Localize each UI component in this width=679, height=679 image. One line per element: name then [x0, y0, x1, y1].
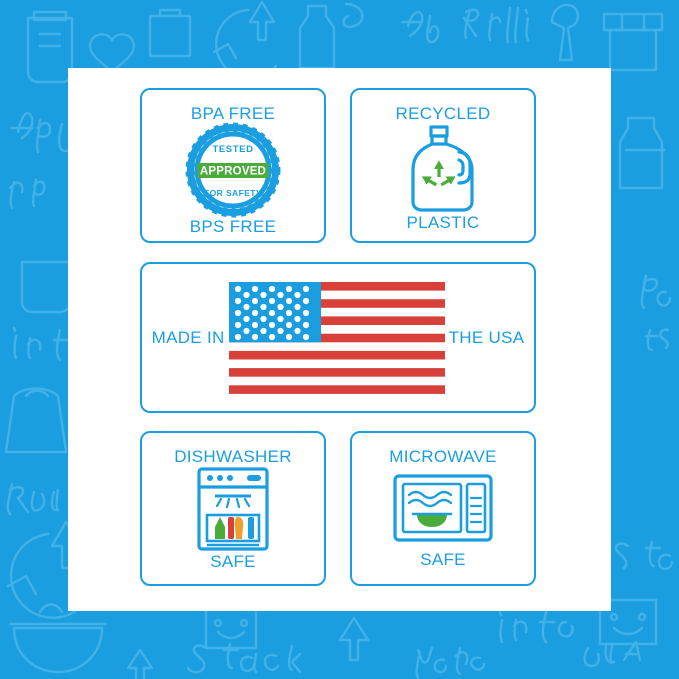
badge-microwave-safe: MICROWAVE: [350, 431, 536, 586]
badges-card: BPA FREE APPROVED TESTED: [68, 68, 611, 611]
microwave-label-bottom: SAFE: [420, 551, 466, 568]
dishwasher-icon: [142, 465, 324, 553]
dishwasher-label-bottom: SAFE: [210, 553, 256, 570]
microwave-icon: [352, 465, 534, 551]
badge-bpa-free: BPA FREE APPROVED TESTED: [140, 88, 326, 243]
badge-dishwasher-safe: DISHWASHER: [140, 431, 326, 586]
recycled-label-top: RECYCLED: [396, 105, 491, 122]
dishwasher-label-top: DISHWASHER: [174, 448, 292, 465]
made-in-usa-label-left: MADE IN: [152, 328, 225, 348]
svg-text:APPROVED: APPROVED: [200, 166, 266, 178]
product-feature-badges-graphic: BPA FREE APPROVED TESTED: [0, 0, 679, 679]
usa-flag-icon: [229, 282, 445, 394]
bpa-free-label-top: BPA FREE: [191, 105, 275, 122]
microwave-label-top: MICROWAVE: [389, 448, 497, 465]
recycled-label-bottom: PLASTIC: [407, 214, 480, 231]
bpa-free-label-bottom: BPS FREE: [190, 218, 276, 235]
badge-recycled-plastic: RECYCLED: [350, 88, 536, 243]
svg-text:FOR SAFETY: FOR SAFETY: [204, 188, 262, 198]
svg-text:TESTED: TESTED: [212, 144, 253, 155]
made-in-usa-label-right: THE USA: [449, 328, 525, 348]
approved-seal-icon: APPROVED TESTED FOR SAFETY: [142, 122, 324, 218]
badge-made-in-usa: MADE IN: [140, 262, 536, 413]
milk-jug-recycle-icon: [352, 122, 534, 214]
badges-grid: BPA FREE APPROVED TESTED: [68, 68, 611, 611]
